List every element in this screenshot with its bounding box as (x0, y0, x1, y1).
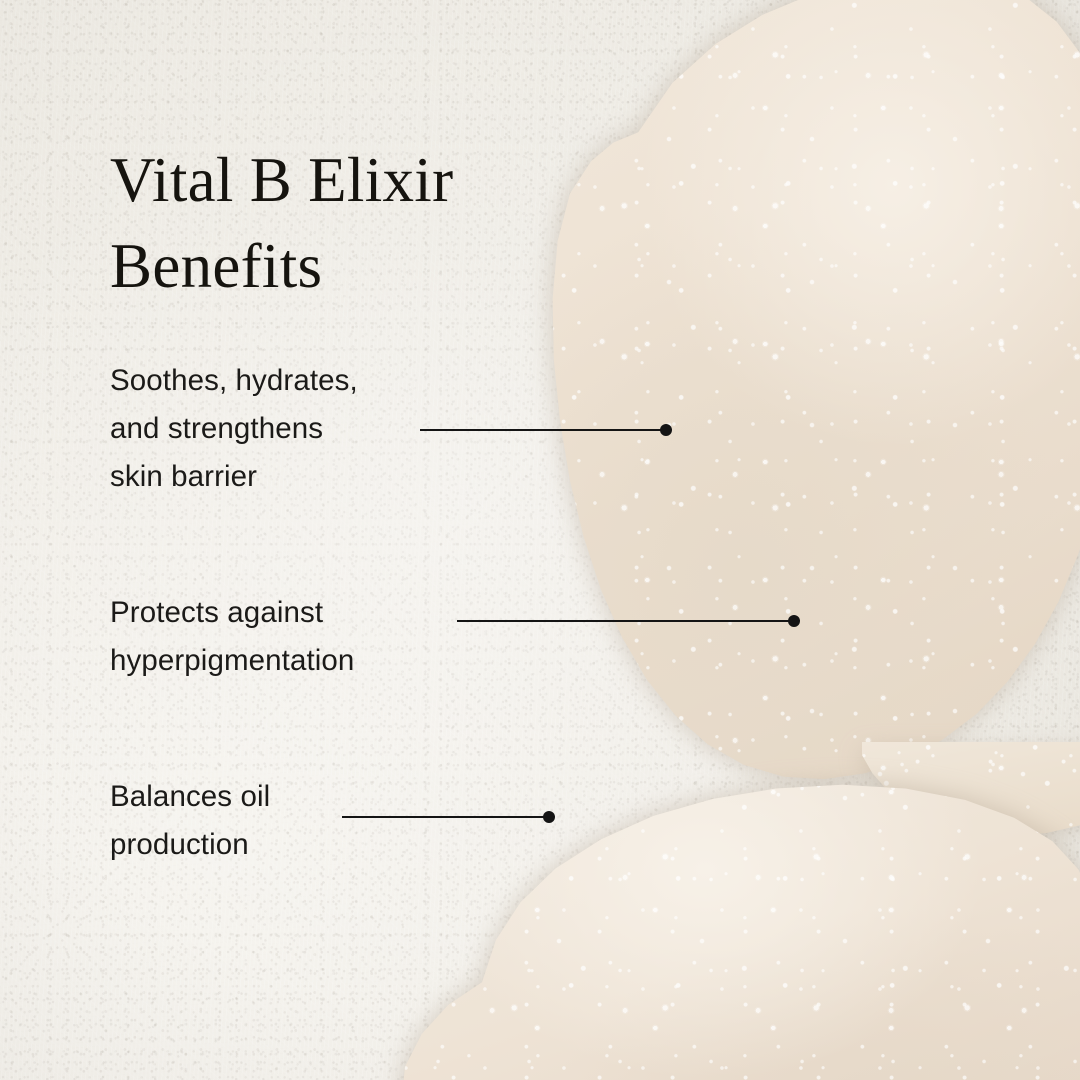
serum-droplet-large (508, 0, 1080, 814)
benefit-line: and strengthens (110, 405, 358, 453)
poster-canvas: Vital B Elixir Benefits Soothes, hydrate… (0, 0, 1080, 1080)
leader-dot (788, 615, 800, 627)
leader-line-soothes (420, 424, 671, 436)
leader-rule (342, 816, 554, 818)
leader-dot (660, 424, 672, 436)
page-title-line-2: Benefits (110, 224, 580, 310)
page-title: Vital B Elixir Benefits (110, 138, 580, 309)
serum-highlight-rim (508, 0, 1080, 814)
leader-rule (457, 620, 799, 622)
benefit-line: production (110, 821, 270, 869)
leader-line-oil-balance (342, 811, 554, 823)
benefit-line: skin barrier (110, 453, 358, 501)
leader-dot (543, 811, 555, 823)
benefit-line: Balances oil (110, 773, 270, 821)
benefit-line: hyperpigmentation (110, 637, 354, 685)
leader-rule (420, 429, 671, 431)
leader-line-hyperpigmentation (457, 615, 799, 627)
benefit-item-hyperpigmentation: Protects against hyperpigmentation (110, 589, 354, 685)
benefit-line: Soothes, hydrates, (110, 357, 358, 405)
benefit-line: Protects against (110, 589, 354, 637)
benefit-item-soothes: Soothes, hydrates, and strengthens skin … (110, 357, 358, 501)
benefit-item-oil-balance: Balances oil production (110, 773, 270, 869)
serum-droplet-large-body (508, 0, 1080, 814)
page-title-line-1: Vital B Elixir (110, 138, 580, 224)
